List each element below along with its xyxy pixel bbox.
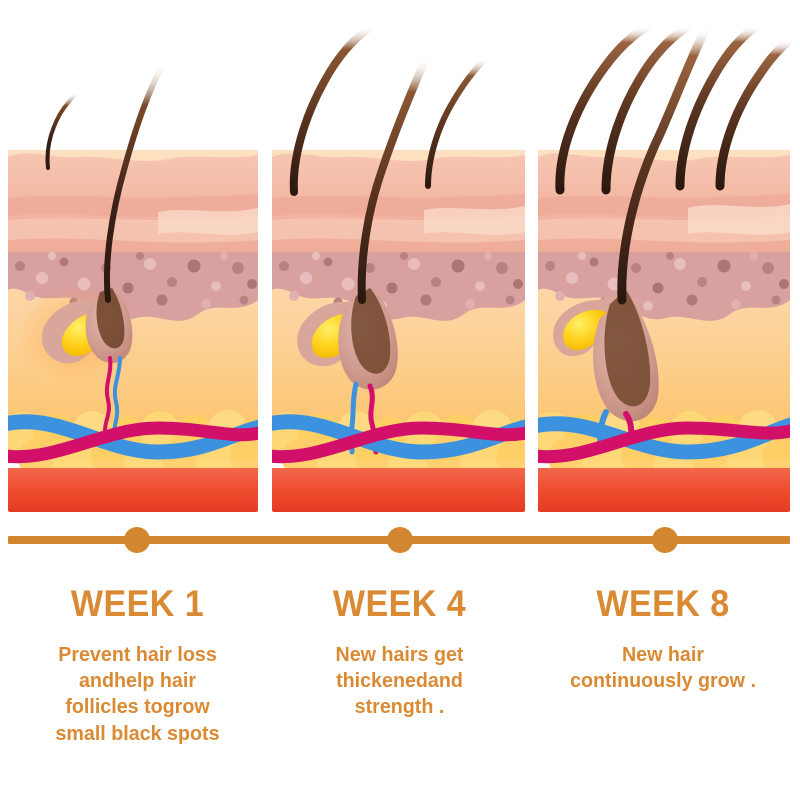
timeline-dot-week-8[interactable] <box>652 527 678 553</box>
week-description-1: Prevent hair loss andhelp hair follicles… <box>15 642 260 747</box>
muscle-layer <box>272 468 525 512</box>
panel-week-8 <box>538 0 790 512</box>
muscle-layer <box>538 468 790 512</box>
caption-week-8: WEEK 8 New hair continuously grow . <box>532 585 794 694</box>
skin-cross-section-week-8 <box>538 0 790 512</box>
week-label-8: WEEK 8 <box>542 585 783 622</box>
timeline-dot-week-4[interactable] <box>387 527 413 553</box>
caption-week-1: WEEK 1 Prevent hair loss andhelp hair fo… <box>10 585 265 747</box>
week-description-8: New hair continuously grow . <box>537 642 789 694</box>
caption-week-4: WEEK 4 New hairs get thickenedand streng… <box>272 585 527 721</box>
week-description-4: New hairs get thickenedand strength . <box>277 642 522 721</box>
skin-panels-row <box>0 0 800 512</box>
timeline-dot-week-1[interactable] <box>124 527 150 553</box>
muscle-layer <box>8 468 258 512</box>
panel-week-4 <box>272 0 525 512</box>
week-label-4: WEEK 4 <box>282 585 517 622</box>
skin-cross-section-week-4 <box>272 0 525 512</box>
infographic-stage: WEEK 1 Prevent hair loss andhelp hair fo… <box>0 0 800 800</box>
skin-cross-section-week-1 <box>8 0 258 512</box>
panel-week-1 <box>8 0 258 512</box>
week-label-1: WEEK 1 <box>20 585 255 622</box>
